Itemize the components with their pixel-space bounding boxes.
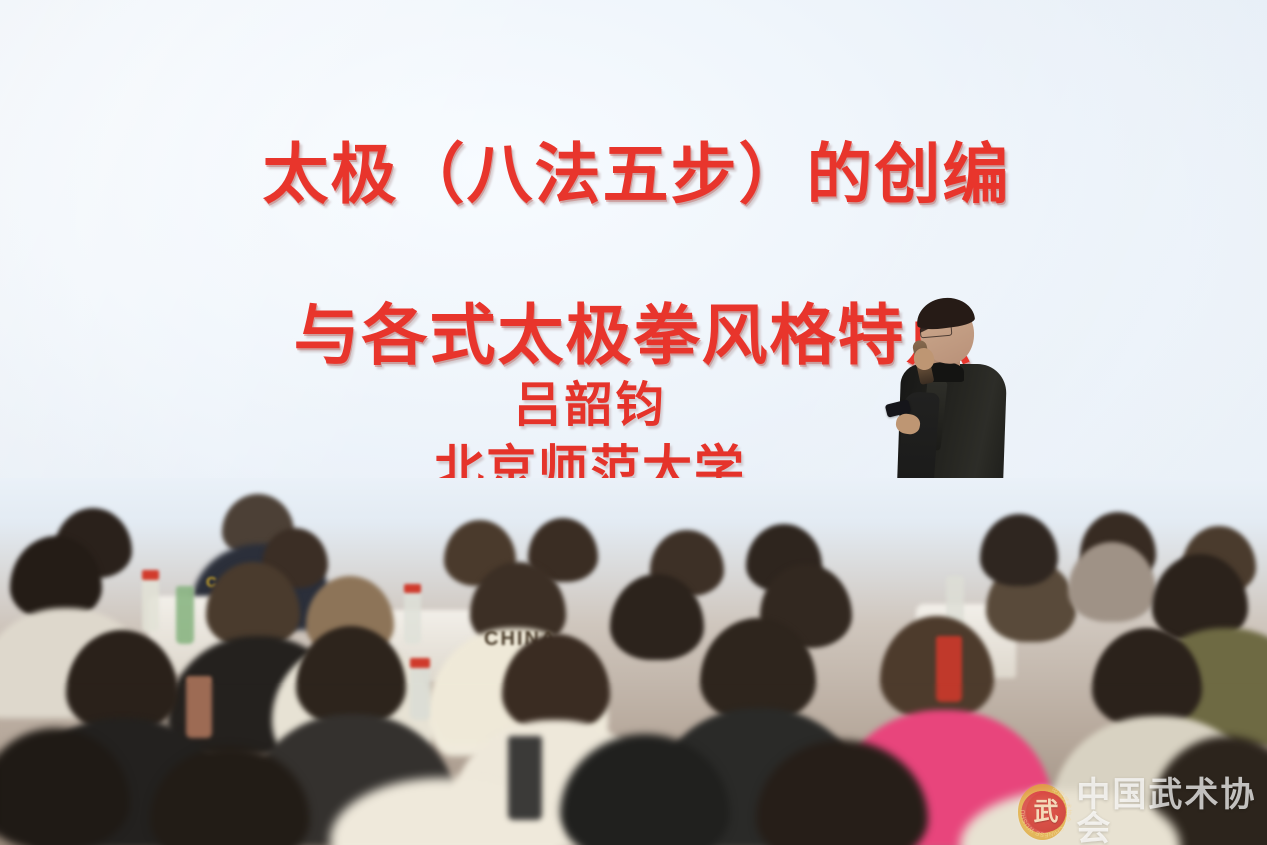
slide-title-line-1: 太极（八法五步）的创编 [0, 137, 1267, 212]
bottle-cap [142, 570, 159, 580]
water-bottle [142, 576, 159, 632]
water-bottle [404, 590, 421, 644]
bottle-cap [410, 658, 430, 668]
thermos-flask [936, 636, 962, 702]
photo-frame: 太极（八法五步）的创编 与各式太极拳风格特点 吕韶钧 北京师范大学 C [0, 0, 1267, 845]
bottle-cap [404, 584, 421, 593]
water-bottle [176, 586, 194, 644]
audience-area: C CHINA [0, 478, 1267, 845]
slide-title-line-2: 与各式太极拳风格特点 [0, 298, 1267, 373]
thermos-flask [186, 676, 212, 738]
projection-screen: 太极（八法五步）的创编 与各式太极拳风格特点 吕韶钧 北京师范大学 [0, 0, 1267, 560]
water-bottle [410, 664, 430, 720]
thermos-flask [508, 736, 542, 820]
